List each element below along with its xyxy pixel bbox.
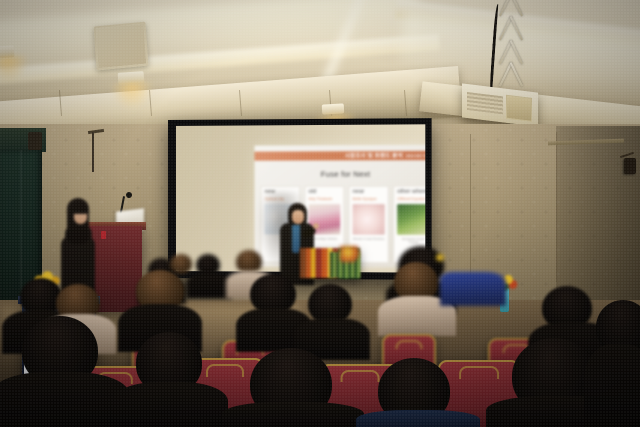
slide-header-band: 시장조사 및 트렌드 분석 2014 S/S Trend	[254, 151, 425, 161]
audience-shoulders-foreground	[584, 344, 640, 427]
hair-fringe	[71, 204, 88, 214]
audience-head	[170, 254, 192, 274]
slide-header-korean: 시장조사 및 트렌드 분석	[345, 152, 403, 159]
presentation-photo: 시장조사 및 트렌드 분석 2014 S/S Trend Fuse for Ne…	[0, 0, 640, 427]
lectern-emblem	[101, 231, 106, 239]
audience-shoulders	[440, 272, 506, 306]
column-image	[397, 204, 425, 235]
hand	[313, 223, 319, 229]
audience-shoulders-foreground	[222, 402, 364, 427]
column-heading: other where	[397, 190, 425, 196]
column-subtitle: Arty Treasure	[308, 197, 340, 201]
wall-speaker	[28, 132, 42, 150]
audience-shoulders-foreground	[0, 372, 130, 427]
wall-access-panel	[94, 22, 149, 71]
mic-stand	[92, 132, 94, 172]
column-heading: old	[308, 190, 340, 196]
wall-speaker	[624, 158, 636, 174]
audience-shoulders-foreground	[356, 410, 480, 427]
sconce-center-icon	[118, 71, 145, 85]
slide-header-english: 2014 S/S Trend	[406, 153, 425, 157]
audience-shoulders-foreground	[112, 382, 228, 427]
projector-vent	[467, 92, 503, 114]
column-subtitle: Offbeat Equator	[397, 197, 425, 201]
sconce-left-icon	[0, 45, 14, 58]
face	[292, 210, 304, 224]
hair-accessory	[436, 254, 444, 261]
column-subtitle: Belle Epoque	[353, 197, 385, 201]
slide-title: Fuse for Next	[254, 169, 425, 179]
projector-lens-icon	[506, 95, 532, 122]
seated-audience	[0, 240, 640, 427]
column-image	[353, 204, 385, 235]
ceiling	[0, 0, 640, 138]
sconce-right-icon	[322, 103, 344, 114]
column-heading: near	[353, 190, 385, 196]
microphone-head-icon	[126, 192, 132, 198]
